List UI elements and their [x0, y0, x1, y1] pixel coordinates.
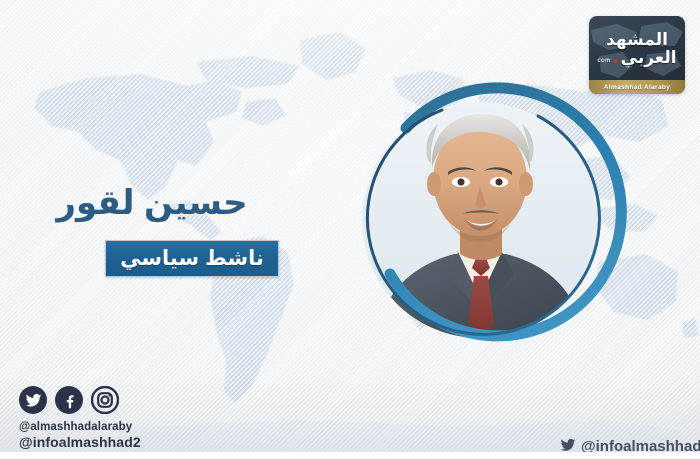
portrait-photo [362, 102, 598, 338]
logo-com-label: com [597, 58, 610, 66]
logo-line-1: المشهد [606, 31, 668, 48]
handle-primary: @almashhadalaraby [19, 420, 141, 434]
facebook-icon[interactable] [55, 386, 83, 414]
person-name: حسين لقور [0, 186, 304, 222]
twitter-icon[interactable] [19, 386, 47, 414]
logo-line-2: العربي [621, 49, 677, 66]
social-block: @almashhadalaraby @infoalmashhad2 [19, 386, 141, 452]
social-handles: @almashhadalaraby @infoalmashhad2 [19, 420, 141, 452]
logo-dot-icon [614, 59, 618, 63]
role-badge: ناشط سياسي [105, 240, 279, 277]
social-icon-row [19, 386, 141, 414]
portrait-container [352, 92, 608, 348]
role-badge-label: ناشط سياسي [120, 248, 264, 269]
social-media-card: المشهد العربي com Almashhad Alaraby [0, 0, 700, 459]
logo-caption: Almashhad Alaraby [604, 84, 670, 91]
bottom-white-strip [0, 452, 700, 459]
instagram-icon[interactable] [91, 386, 119, 414]
channel-logo[interactable]: المشهد العربي com Almashhad Alaraby [589, 16, 685, 94]
handle-secondary: @infoalmashhad2 [19, 434, 141, 452]
